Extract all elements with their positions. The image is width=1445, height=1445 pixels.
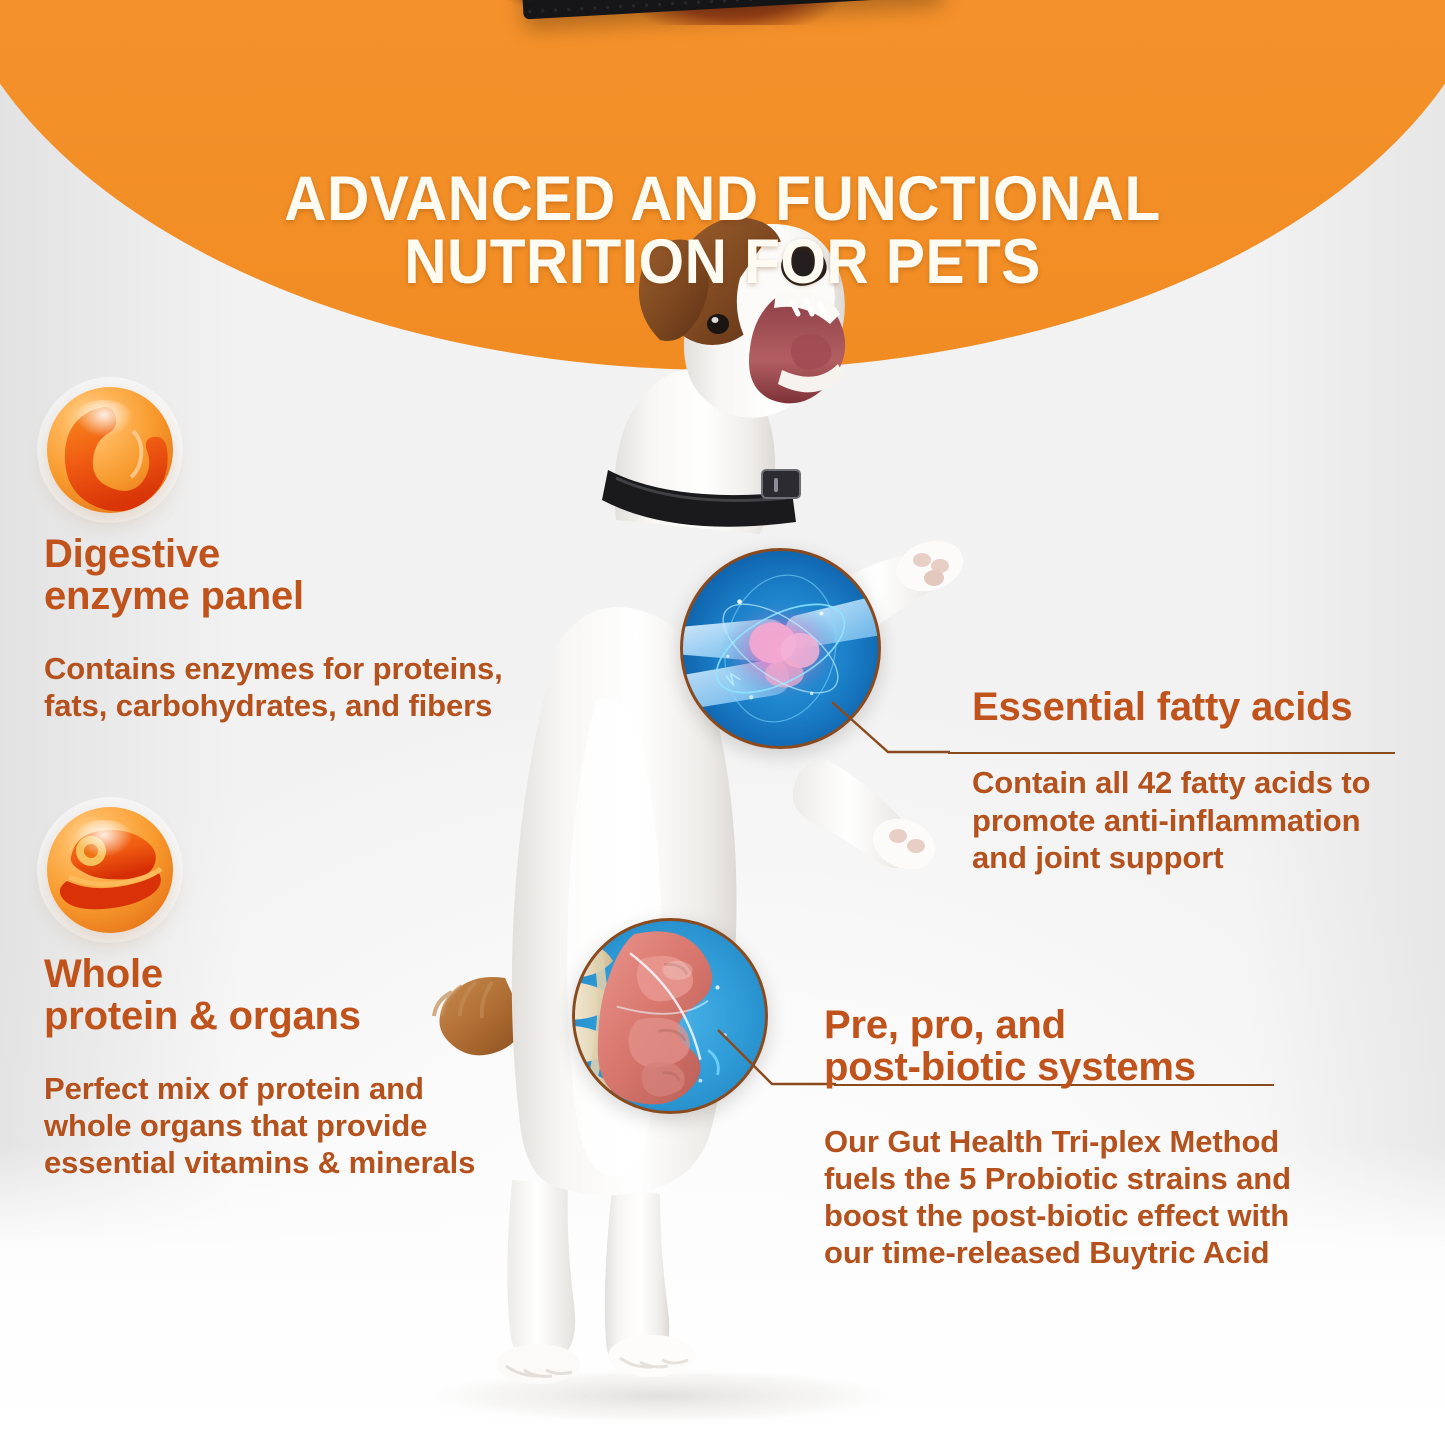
feature-body: Our Gut Health Tri-plex Method fuels the… <box>824 1123 1364 1272</box>
page-title: ADVANCED AND FUNCTIONAL NUTRITION FOR PE… <box>51 168 1395 293</box>
feature-title: Whole protein & organs <box>44 953 564 1038</box>
dog-collar <box>602 470 800 527</box>
feature-title: Pre, pro, and post-biotic systems <box>824 1004 1364 1089</box>
dog-front-leg-lower <box>793 760 916 868</box>
feature-pre-pro-post-biotic-systems: Pre, pro, and post-biotic systems Our Gu… <box>824 1004 1364 1272</box>
feature-digestive-enzyme-panel: Digestive enzyme panel Contains enzymes … <box>44 533 564 724</box>
feature-whole-protein-and-organs: Whole protein & organs Perfect mix of pr… <box>44 953 564 1181</box>
feature-body: Contains enzymes for proteins, fats, car… <box>44 650 564 724</box>
feature-title: Essential fatty acids <box>972 686 1432 728</box>
product-infographic: ADVANCED AND FUNCTIONAL NUTRITION FOR PE… <box>0 0 1445 1445</box>
feature-title: Digestive enzyme panel <box>44 533 564 618</box>
feature-body: Contain all 42 fatty acids to promote an… <box>972 764 1432 876</box>
feature-essential-fatty-acids: Essential fatty acids Contain all 42 fat… <box>972 686 1432 876</box>
feature-body: Perfect mix of protein and whole organs … <box>44 1070 564 1182</box>
leader-line-biotics <box>716 1028 836 1092</box>
leader-line-fatty-acids <box>830 700 950 760</box>
stomach-icon <box>47 387 173 513</box>
meat-cut-icon <box>47 807 173 933</box>
product-bag-image <box>463 0 983 30</box>
